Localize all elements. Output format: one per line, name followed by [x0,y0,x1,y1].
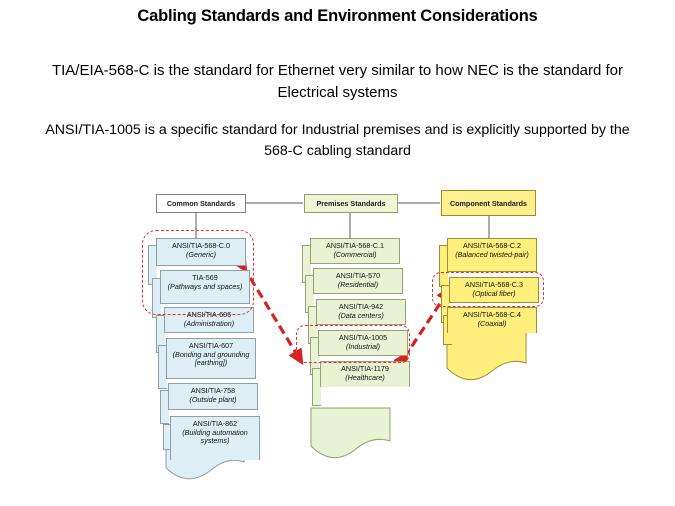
standard-code: TIA-569 [192,273,218,282]
standard-code: ANSI/TIA-568-C.4 [463,310,521,319]
standard-description: (Industrial) [319,343,407,352]
standard-box-ansi-tia-607[interactable]: ANSI/TIA-607 (Bonding and grounding [ear… [166,338,256,379]
standard-description: (Data centers) [317,312,405,321]
standard-code: ANSI/TIA-942 [339,302,383,311]
standard-box-ansi-tia-568-c-3[interactable]: ANSI/TIA-568-C.3 (Optical fiber) [449,277,539,303]
standard-box-ansi-tia-862[interactable]: ANSI/TIA-862 (Building automation system… [170,416,260,460]
standard-code: ANSI/TIA-568-C.3 [465,280,523,289]
header-box-component-standards[interactable]: Component Standards [441,190,536,216]
standard-description: (Optical fiber) [450,290,538,299]
header-box-premises-standards[interactable]: Premises Standards [304,194,398,213]
standard-code: ANSI/TIA-606 [187,310,231,319]
standard-description: (Residential) [314,281,402,290]
standard-description: (Administration) [165,320,253,329]
standard-description: (Bonding and grounding [earthing]) [167,351,255,368]
standard-description: (Commercial) [311,251,399,260]
standard-box-ansi-tia-568-c-2[interactable]: ANSI/TIA-568-C.2 (Balanced twisted-pair) [447,238,537,272]
standard-code: ANSI/TIA-862 [193,419,237,428]
standard-code: ANSI/TIA-568-C.0 [172,241,230,250]
standard-box-ansi-tia-570[interactable]: ANSI/TIA-570 (Residential) [313,268,403,294]
standard-box-ansi-tia-1005[interactable]: ANSI/TIA-1005 (Industrial) [318,330,408,356]
header-label-common: Common Standards [167,199,235,208]
standard-box-ansi-tia-568-c-4[interactable]: ANSI/TIA-568-C.4 (Coaxial) [447,307,537,333]
standard-box-ansi-tia-1179[interactable]: ANSI/TIA-1179 (Healthcare) [320,361,410,387]
standard-code: ANSI/TIA-758 [191,386,235,395]
standard-box-ansi-tia-568-c-1[interactable]: ANSI/TIA-568-C.1 (Commercial) [310,238,400,264]
standard-box-ansi-tia-568-c-0[interactable]: ANSI/TIA-568-C.0 (Generic) [156,238,246,266]
standard-box-tia-569[interactable]: TIA-569 (Pathways and spaces) [160,270,250,304]
standard-box-ansi-tia-606[interactable]: ANSI/TIA-606 (Administration) [164,307,254,333]
standard-code: ANSI/TIA-607 [189,341,233,350]
standard-description: (Building automation systems) [171,429,259,446]
standard-description: (Outside plant) [169,396,257,405]
standard-code: ANSI/TIA-568-C.1 [326,241,384,250]
header-box-common-standards[interactable]: Common Standards [156,194,246,213]
standard-code: ANSI/TIA-1005 [339,333,387,342]
standard-description: (Healthcare) [321,374,409,383]
component-stack-torn-bottom [447,330,526,380]
header-label-premises: Premises Standards [316,199,385,208]
standard-description: (Balanced twisted-pair) [448,251,536,260]
header-label-component: Component Standards [450,199,527,208]
standard-code: ANSI/TIA-1179 [341,364,389,373]
standard-description: (Pathways and spaces) [161,283,249,292]
standard-description: (Coaxial) [448,320,536,329]
premises-stack-torn-bottom [311,408,390,458]
standard-box-ansi-tia-942[interactable]: ANSI/TIA-942 (Data centers) [316,299,406,325]
standard-description: (Generic) [157,251,245,260]
standards-hierarchy-diagram: common-standards group --> optical fiber… [0,0,675,506]
standard-code: ANSI/TIA-568-C.2 [463,241,521,250]
standard-box-ansi-tia-758[interactable]: ANSI/TIA-758 (Outside plant) [168,383,258,410]
standard-code: ANSI/TIA-570 [336,271,380,280]
